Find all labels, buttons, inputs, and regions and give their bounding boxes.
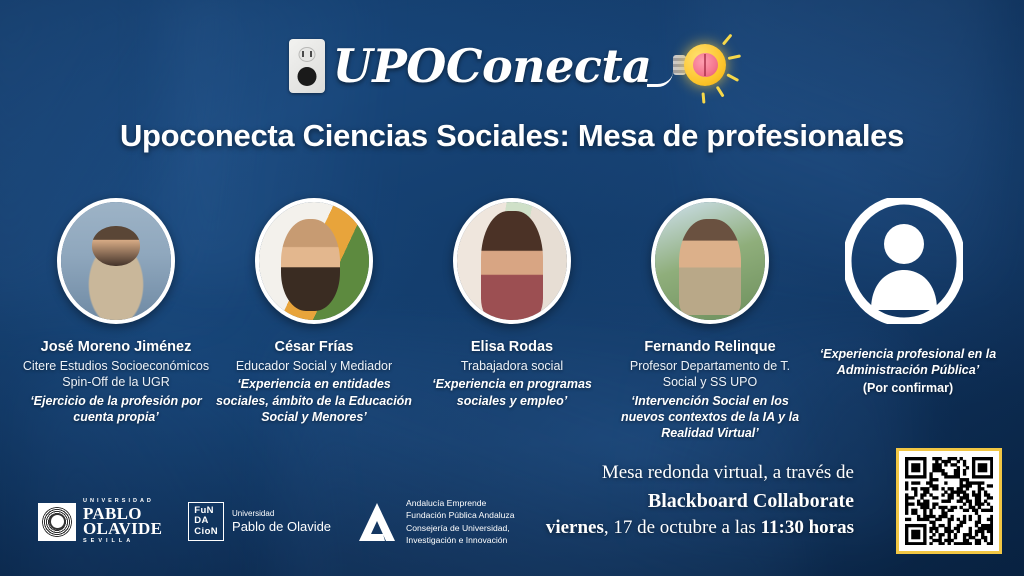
speaker-card-4: Fernando Relinque Profesor Departamento …	[612, 198, 808, 441]
speaker-role: Educador Social y Mediador	[236, 358, 392, 374]
speaker-topic: ‘Experiencia en entidades sociales, ámbi…	[216, 376, 412, 425]
andalucia-a-icon	[357, 501, 397, 543]
upo-seal-icon	[38, 503, 76, 541]
speaker-card-1: José Moreno Jiménez Citere Estudios Soci…	[18, 198, 214, 425]
speaker-card-3: Elisa Rodas Trabajadora social ‘Experien…	[414, 198, 610, 409]
logo-universidad-pablo-olavide: UNIVERSIDAD PABLO OLAVIDE SEVILLA	[38, 499, 162, 544]
junta-line3: Consejería de Universidad,	[406, 522, 514, 534]
speaker-topic: ‘Intervención Social en los nuevos conte…	[612, 393, 808, 442]
event-platform: Blackboard Collaborate	[546, 487, 854, 515]
brand-logo: UPOConecta	[0, 22, 1024, 110]
speaker-name: Elisa Rodas	[471, 338, 553, 356]
speaker-role: Trabajadora social	[461, 358, 563, 374]
upo-footer: SEVILLA	[83, 539, 162, 545]
speaker-role: Citere Estudios Socioeconómicos Spin-Off…	[18, 358, 214, 391]
speaker-name: José Moreno Jiménez	[41, 338, 192, 356]
fundacion-monogram: FuN DA CioN	[188, 502, 224, 541]
speaker-name: Fernando Relinque	[644, 338, 775, 356]
fundacion-text-line2: Pablo de Olavide	[232, 519, 331, 535]
partner-logos: UNIVERSIDAD PABLO OLAVIDE SEVILLA FuN DA…	[38, 497, 515, 546]
speaker-card-2: César Frías Educador Social y Mediador ‘…	[216, 198, 412, 425]
event-format: Mesa redonda virtual, a través de	[546, 460, 854, 487]
logo-fundacion-upo: FuN DA CioN Universidad Pablo de Olavide	[188, 502, 331, 541]
junta-line4: Investigación e Innovación	[406, 534, 514, 546]
speaker-topic: ‘Experiencia profesional en la Administr…	[810, 346, 1006, 379]
upo-main-line2: OLAVIDE	[83, 520, 162, 537]
avatar	[255, 198, 373, 324]
avatar	[57, 198, 175, 324]
speaker-topic: ‘Ejercicio de la profesión por cuenta pr…	[18, 393, 214, 426]
event-time: 11:30 horas	[761, 517, 854, 538]
junta-line2: Fundación Pública Andaluza	[406, 509, 514, 521]
event-weekday: viernes	[546, 517, 604, 538]
poster-canvas: UPOConecta Upoconecta Ciencias Sociales:…	[0, 0, 1024, 576]
avatar-placeholder	[845, 198, 963, 324]
event-datetime: viernes, 17 de octubre a las 11:30 horas	[546, 515, 854, 542]
logo-junta-andalucia: Andalucía Emprende Fundación Pública And…	[357, 497, 514, 546]
junta-line1: Andalucía Emprende	[406, 497, 514, 509]
event-time-prefix: a las	[722, 517, 761, 538]
qr-code-image	[905, 457, 993, 545]
lightbulb-brain-icon	[673, 35, 735, 97]
speaker-role: Profesor Departamento de T. Social y SS …	[612, 358, 808, 391]
avatar	[453, 198, 571, 324]
brand-wordmark: UPOConecta	[331, 43, 654, 89]
user-silhouette-icon	[845, 198, 963, 324]
event-details: Mesa redonda virtual, a través de Blackb…	[546, 460, 854, 542]
fundacion-text-line1: Universidad	[232, 509, 331, 519]
avatar	[651, 198, 769, 324]
power-outlet-icon	[289, 39, 325, 93]
qr-code[interactable]	[896, 448, 1002, 554]
speaker-topic: ‘Experiencia en programas sociales y emp…	[414, 376, 610, 409]
event-date: , 17 de octubre	[604, 517, 722, 538]
fundacion-monogram-line3: CioN	[194, 527, 218, 537]
page-title: Upoconecta Ciencias Sociales: Mesa de pr…	[0, 118, 1024, 154]
cord-icon	[647, 61, 673, 87]
speaker-note: (Por confirmar)	[863, 380, 953, 396]
speaker-name: César Frías	[275, 338, 354, 356]
